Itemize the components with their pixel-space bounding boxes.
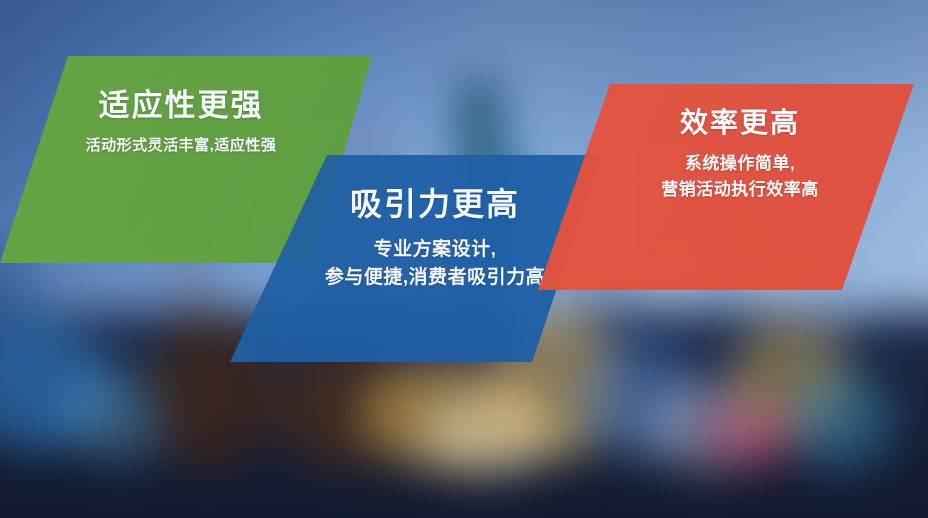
city-light-glow xyxy=(785,370,895,470)
panel-subtitle-line: 系统操作简单, xyxy=(661,151,819,177)
panel-subtitle-line: 参与便捷,消费者吸引力高 xyxy=(325,264,545,293)
panel-title-adaptability: 适应性更强 xyxy=(86,88,277,125)
panel-subtitle-adaptability: 活动形式灵活丰富,适应性强 xyxy=(86,135,277,158)
panel-subtitle-line: 专业方案设计, xyxy=(325,236,545,265)
panel-title-attraction: 吸引力更高 xyxy=(325,186,545,224)
slide-canvas: 适应性更强 活动形式灵活丰富,适应性强 吸引力更高 专业方案设计, 参与便捷,消… xyxy=(0,0,928,518)
panel-subtitle-line: 营销活动执行效率高 xyxy=(661,177,819,203)
city-light-glow xyxy=(700,400,800,470)
panel-text-block: 吸引力更高 专业方案设计, 参与便捷,消费者吸引力高 xyxy=(325,186,545,293)
panel-subtitle-line: 活动形式灵活丰富,适应性强 xyxy=(86,135,277,158)
panel-text-block: 适应性更强 活动形式灵活丰富,适应性强 xyxy=(86,88,277,157)
panel-title-efficiency: 效率更高 xyxy=(661,106,819,139)
panel-subtitle-attraction: 专业方案设计, 参与便捷,消费者吸引力高 xyxy=(325,236,545,293)
panel-text-block: 效率更高 系统操作简单, 营销活动执行效率高 xyxy=(661,106,819,202)
panel-subtitle-efficiency: 系统操作简单, 营销活动执行效率高 xyxy=(661,151,819,202)
